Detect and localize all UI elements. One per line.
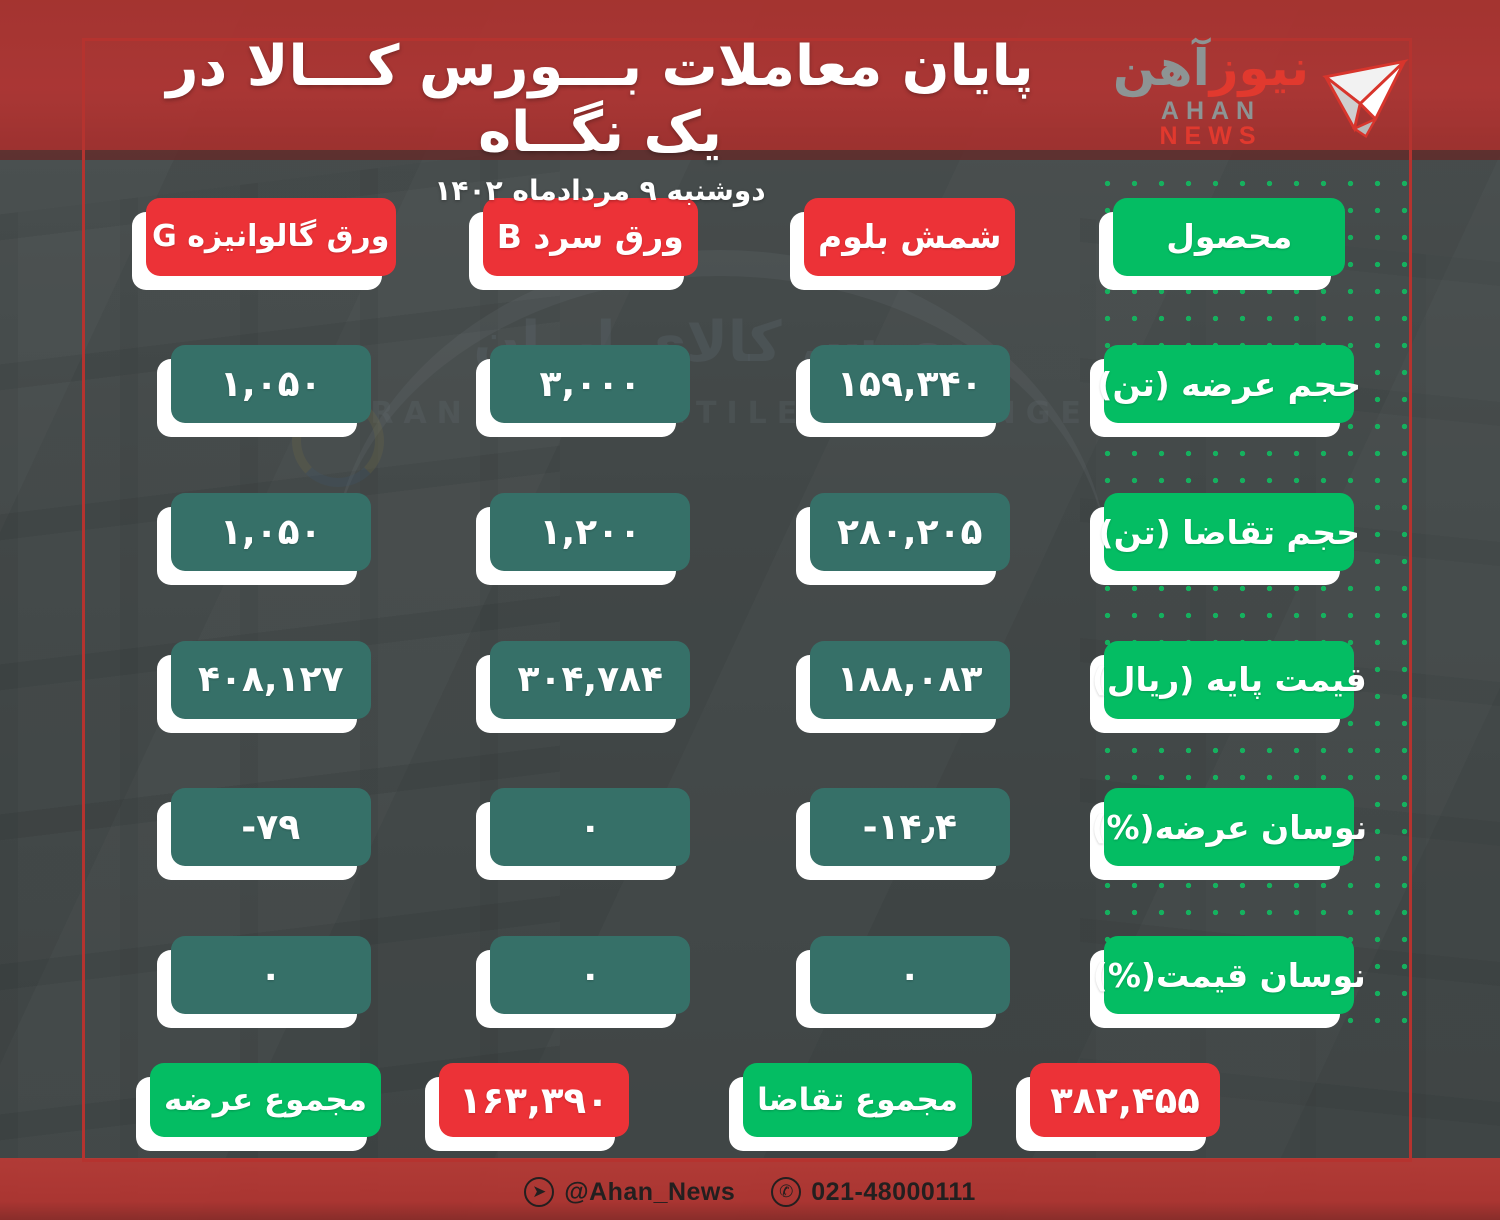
cell-value: ۰ bbox=[899, 955, 921, 996]
cell-value: ۱,۲۰۰ bbox=[539, 512, 641, 553]
cell-base-price-galvanized: ۴۰۸,۱۲۷ bbox=[171, 641, 371, 719]
table-data-cell: ۰ bbox=[759, 904, 1061, 1046]
cell-value: ۳۰۴,۷۸۴ bbox=[518, 659, 664, 700]
data-table: محصول شمش بلوم ورق سرد B ورق گالوانیزه G… bbox=[120, 166, 1380, 1046]
summary-supply-label: مجموع عرضه bbox=[150, 1063, 381, 1137]
table-data-cell: ۰ bbox=[120, 904, 422, 1046]
cell-value: ۱۴٫۴- bbox=[863, 807, 957, 848]
cell-price-fluctuation-galvanized: ۰ bbox=[171, 936, 371, 1014]
summary-value: ۱۶۳,۳۹۰ bbox=[459, 1079, 609, 1122]
row-label-price-fluctuation: نوسان قیمت(%) bbox=[1104, 936, 1354, 1014]
summary-value: ۳۸۲,۴۵۵ bbox=[1050, 1079, 1200, 1122]
table-data-cell: ۱۵۹,۳۴۰ bbox=[759, 314, 1061, 456]
cell-supply-fluctuation-cold-sheet: ۰ bbox=[490, 788, 690, 866]
telegram-icon: ➤ bbox=[524, 1177, 554, 1207]
cell-value: ۰ bbox=[579, 807, 601, 848]
brand-en-gray: AHAN bbox=[1161, 97, 1261, 125]
cell-supply-fluctuation-bloom: ۱۴٫۴- bbox=[810, 788, 1010, 866]
summary-demand-value: ۳۸۲,۴۵۵ bbox=[1030, 1063, 1220, 1137]
cell-supply-volume-cold-sheet: ۳,۰۰۰ bbox=[490, 345, 690, 423]
table-row-label-cell: قیمت پایه (ریال) bbox=[1079, 609, 1381, 751]
row-label: حجم عرضه (تن) bbox=[1097, 365, 1361, 404]
table-data-cell: ۳,۰۰۰ bbox=[440, 314, 742, 456]
cell-value: ۰ bbox=[260, 955, 282, 996]
row-label: حجم تقاضا (تن) bbox=[1099, 513, 1361, 552]
table-data-cell: ۱,۰۵۰ bbox=[120, 461, 422, 603]
table-row-label-cell: نوسان عرضه(%) bbox=[1079, 757, 1381, 899]
cell-demand-volume-galvanized: ۱,۰۵۰ bbox=[171, 493, 371, 571]
table-data-cell: ۰ bbox=[440, 757, 742, 899]
page-title: پایان معاملات بـــورس کـــالا در یک نگــ… bbox=[120, 34, 1080, 166]
table-row-label-cell: حجم تقاضا (تن) bbox=[1079, 461, 1381, 603]
summary-demand-label: مجموع تقاضا bbox=[743, 1063, 972, 1137]
cell-demand-volume-cold-sheet: ۱,۲۰۰ bbox=[490, 493, 690, 571]
brand-logo: نیوزآهن AHAN NEWS bbox=[1112, 40, 1412, 152]
cell-supply-volume-bloom: ۱۵۹,۳۴۰ bbox=[810, 345, 1010, 423]
row-label-supply-fluctuation: نوسان عرضه(%) bbox=[1104, 788, 1354, 866]
cell-value: ۱۵۹,۳۴۰ bbox=[837, 364, 983, 405]
cell-value: ۳,۰۰۰ bbox=[539, 364, 641, 405]
column-header-label: ورق گالوانیزه G bbox=[152, 219, 389, 254]
cell-value: ۲۸۰,۲۰۵ bbox=[837, 512, 983, 553]
summary-label: مجموع تقاضا bbox=[757, 1082, 958, 1118]
table-data-cell: ۲۸۰,۲۰۵ bbox=[759, 461, 1061, 603]
cell-price-fluctuation-bloom: ۰ bbox=[810, 936, 1010, 1014]
summary-supply-group: ۱۶۳,۳۹۰ مجموع عرضه bbox=[150, 1063, 629, 1137]
phone-contact[interactable]: ✆ 021-48000111 bbox=[771, 1177, 976, 1207]
table-row-label-cell: حجم عرضه (تن) bbox=[1079, 314, 1381, 456]
cell-value: ۱۸۸,۰۸۳ bbox=[837, 659, 983, 700]
page-date: دوشنبه ۹ مردادماه ۱۴۰۲ bbox=[120, 174, 1080, 207]
column-header-product: محصول bbox=[1113, 198, 1345, 276]
cell-base-price-cold-sheet: ۳۰۴,۷۸۴ bbox=[490, 641, 690, 719]
cell-value: ۰ bbox=[579, 955, 601, 996]
table-data-cell: ۱۸۸,۰۸۳ bbox=[759, 609, 1061, 751]
cell-supply-volume-galvanized: ۱,۰۵۰ bbox=[171, 345, 371, 423]
summary-label: مجموع عرضه bbox=[164, 1082, 367, 1118]
row-label: قیمت پایه (ریال) bbox=[1092, 660, 1367, 699]
column-header-bloom-billet: شمش بلوم bbox=[804, 198, 1015, 276]
table-data-cell: ۱,۰۵۰ bbox=[120, 314, 422, 456]
cell-base-price-bloom: ۱۸۸,۰۸۳ bbox=[810, 641, 1010, 719]
table-row-label-cell: نوسان قیمت(%) bbox=[1079, 904, 1381, 1046]
telegram-contact[interactable]: ➤ @Ahan_News bbox=[524, 1177, 735, 1207]
column-header-label: شمش بلوم bbox=[818, 217, 1001, 256]
summary-supply-value: ۱۶۳,۳۹۰ bbox=[439, 1063, 629, 1137]
cell-supply-fluctuation-galvanized: ۷۹- bbox=[171, 788, 371, 866]
brand-en-red: NEWS bbox=[1160, 122, 1263, 150]
brand-fa-red: نیوز bbox=[1210, 39, 1309, 97]
table-data-cell: ۱,۲۰۰ bbox=[440, 461, 742, 603]
table-data-cell: ۱۴٫۴- bbox=[759, 757, 1061, 899]
row-label-demand-volume: حجم تقاضا (تن) bbox=[1104, 493, 1354, 571]
column-header-galvanized-sheet-g: ورق گالوانیزه G bbox=[146, 198, 396, 276]
brand-fa-gray: آهن bbox=[1113, 39, 1210, 97]
cell-value: ۷۹- bbox=[241, 807, 300, 848]
table-data-cell: ۰ bbox=[440, 904, 742, 1046]
footer-contacts: ➤ @Ahan_News ✆ 021-48000111 bbox=[0, 1170, 1500, 1214]
brand-wordmark: نیوزآهن AHAN NEWS bbox=[1112, 43, 1310, 149]
row-label-supply-volume: حجم عرضه (تن) bbox=[1104, 345, 1354, 423]
phone-number: 021-48000111 bbox=[811, 1178, 976, 1207]
table-data-cell: ۴۰۸,۱۲۷ bbox=[120, 609, 422, 751]
infographic-canvas: بورس کالای ایران IRAN MERCANTILE EXCHANG… bbox=[0, 0, 1500, 1220]
row-label: نوسان عرضه(%) bbox=[1091, 808, 1367, 847]
summary-row: ۳۸۲,۴۵۵ مجموع تقاضا ۱۶۳,۳۹۰ مجموع عرضه bbox=[150, 1052, 1220, 1148]
phone-icon: ✆ bbox=[771, 1177, 801, 1207]
summary-demand-group: ۳۸۲,۴۵۵ مجموع تقاضا bbox=[743, 1063, 1220, 1137]
cell-demand-volume-bloom: ۲۸۰,۲۰۵ bbox=[810, 493, 1010, 571]
brand-wordmark-en: AHAN NEWS bbox=[1112, 99, 1310, 149]
telegram-handle: @Ahan_News bbox=[564, 1178, 735, 1207]
cell-value: ۴۰۸,۱۲۷ bbox=[198, 659, 344, 700]
column-header-label: محصول bbox=[1166, 217, 1292, 256]
row-label: نوسان قیمت(%) bbox=[1093, 956, 1366, 995]
table-header-cell: محصول bbox=[1079, 166, 1381, 308]
column-header-label: ورق سرد B bbox=[497, 217, 684, 256]
title-block: پایان معاملات بـــورس کـــالا در یک نگــ… bbox=[120, 34, 1080, 207]
brand-wordmark-fa: نیوزآهن bbox=[1112, 43, 1310, 93]
column-header-cold-sheet-b: ورق سرد B bbox=[483, 198, 698, 276]
row-label-base-price: قیمت پایه (ریال) bbox=[1104, 641, 1354, 719]
paper-plane-arrow-icon bbox=[1316, 48, 1412, 144]
table-data-cell: ۷۹- bbox=[120, 757, 422, 899]
table-data-cell: ۳۰۴,۷۸۴ bbox=[440, 609, 742, 751]
cell-value: ۱,۰۵۰ bbox=[220, 512, 322, 553]
cell-price-fluctuation-cold-sheet: ۰ bbox=[490, 936, 690, 1014]
cell-value: ۱,۰۵۰ bbox=[220, 364, 322, 405]
